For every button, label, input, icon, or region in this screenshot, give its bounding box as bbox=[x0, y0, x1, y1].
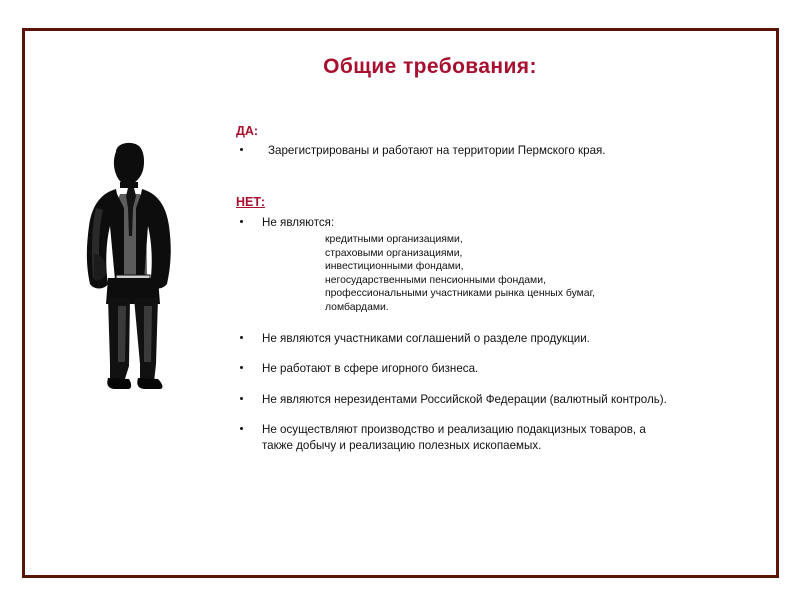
list-item: Не работают в сфере игорного бизнеса. bbox=[228, 361, 776, 377]
bullet-dot-icon bbox=[240, 397, 243, 400]
no-section-label: НЕТ: bbox=[236, 195, 776, 210]
page-title: Общие требования: bbox=[150, 55, 710, 79]
list-item-text: Зарегистрированы и работают на территори… bbox=[268, 144, 606, 157]
sub-list-item: инвестиционными фондами, bbox=[325, 260, 776, 274]
no-section-sub-list: кредитными организациями, страховыми орг… bbox=[228, 233, 776, 315]
businessman-silhouette-image bbox=[72, 138, 192, 390]
list-item-text: Не являются: bbox=[262, 216, 334, 229]
sub-list-item: страховыми организациями, bbox=[325, 247, 776, 261]
sub-list-item: негосударственными пенсионными фондами, bbox=[325, 274, 776, 288]
sub-list-item: профессиональными участниками рынка ценн… bbox=[325, 287, 776, 301]
list-item: Не являются участниками соглашений о раз… bbox=[228, 331, 776, 347]
list-item-text: Не являются участниками соглашений о раз… bbox=[262, 332, 590, 345]
bullet-dot-icon bbox=[240, 336, 243, 339]
list-item: Не осуществляют производство и реализаци… bbox=[228, 422, 776, 453]
businessman-silhouette-icon bbox=[72, 138, 192, 390]
bullet-dot-icon bbox=[240, 220, 243, 223]
list-item: Не являются нерезидентами Российской Фед… bbox=[228, 392, 776, 408]
bullet-dot-icon bbox=[240, 366, 243, 369]
sub-list-item: кредитными организациями, bbox=[325, 233, 776, 247]
yes-bullet-list: Зарегистрированы и работают на территори… bbox=[228, 143, 776, 159]
bullet-dot-icon bbox=[240, 148, 243, 151]
list-item-text: Не являются нерезидентами Российской Фед… bbox=[262, 393, 667, 406]
list-item-text-line1: Не осуществляют производство и реализаци… bbox=[262, 422, 776, 438]
no-bullet-list-lead: Не являются: bbox=[228, 215, 776, 231]
requirements-content: ДА: Зарегистрированы и работают на терри… bbox=[228, 124, 776, 453]
yes-section-label: ДА: bbox=[236, 124, 776, 139]
list-item-text-line2: также добычу и реализацию полезных ископ… bbox=[262, 438, 776, 454]
list-item-text: Не работают в сфере игорного бизнеса. bbox=[262, 362, 478, 375]
list-item: Не являются: bbox=[228, 215, 776, 231]
no-bullet-list-rest: Не являются участниками соглашений о раз… bbox=[228, 331, 776, 454]
sub-list-item: ломбардами. bbox=[325, 301, 776, 315]
slide-canvas: Общие требования: bbox=[0, 0, 800, 600]
bullet-dot-icon bbox=[240, 427, 243, 430]
list-item: Зарегистрированы и работают на территори… bbox=[228, 143, 776, 159]
